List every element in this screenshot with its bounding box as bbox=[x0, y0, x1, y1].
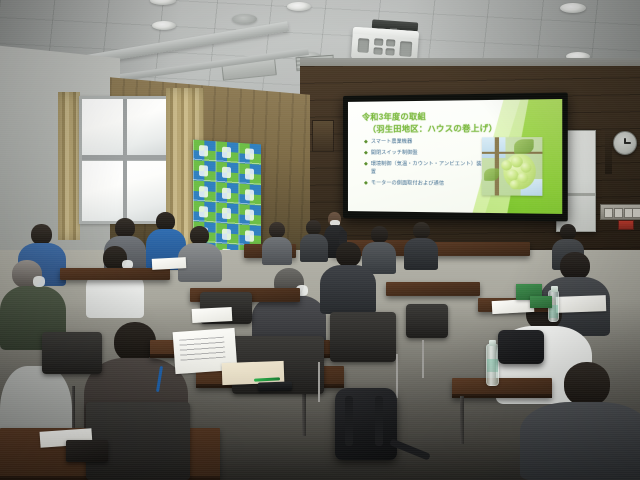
projector-vent bbox=[385, 48, 394, 56]
green-storage-box bbox=[530, 296, 552, 308]
bottle-cap bbox=[489, 340, 496, 346]
projector-vent bbox=[399, 41, 412, 57]
stacking-chair[interactable] bbox=[330, 312, 396, 362]
bullet-text: 環境制御（気温・カウント・アンビエント）装置 bbox=[371, 160, 486, 177]
window-mullion bbox=[82, 155, 171, 160]
chair-leg bbox=[422, 340, 424, 378]
bottle-label bbox=[487, 359, 498, 372]
greenhouse-sky-patch bbox=[482, 137, 506, 158]
floor-backpack[interactable] bbox=[335, 388, 397, 460]
printed-handout[interactable] bbox=[556, 295, 607, 313]
attendee-torso bbox=[262, 237, 292, 265]
attendee-head bbox=[560, 252, 590, 280]
bullet-marker-icon: ◆ bbox=[364, 179, 368, 187]
attendee-torso bbox=[404, 238, 438, 270]
wall-mounted-speaker bbox=[312, 120, 334, 152]
slide-title: 令和3年度の取組 （羽生田地区：ハウスの巻上げ） bbox=[362, 110, 497, 135]
light-switch[interactable] bbox=[604, 208, 613, 218]
attendee-head bbox=[269, 222, 285, 238]
bullet-text: スマート農業機器 bbox=[371, 138, 412, 146]
attendee-torso bbox=[320, 265, 376, 314]
projector-vent bbox=[386, 39, 395, 47]
grape-leaf bbox=[514, 139, 534, 154]
desk-front-edge bbox=[452, 394, 552, 398]
slide-title-line1: 令和3年度の取組 bbox=[362, 112, 426, 122]
slide-bullet-item: ◆ 開閉スイッチ制御盤 bbox=[364, 149, 486, 157]
screen-surface: 令和3年度の取組 （羽生田地区：ハウスの巻上げ） ◆ スマート農業機器 ◆ 開閉… bbox=[348, 99, 562, 214]
printed-handout[interactable] bbox=[152, 257, 187, 270]
handout-text-lines bbox=[179, 336, 225, 360]
conference-desk bbox=[386, 282, 480, 296]
projection-screen: 令和3年度の取組 （羽生田地区：ハウスの巻上げ） ◆ スマート農業機器 ◆ 開閉… bbox=[343, 93, 568, 222]
printed-handout[interactable] bbox=[492, 299, 535, 314]
grape-leaf bbox=[484, 168, 499, 181]
projector-vent bbox=[374, 38, 383, 46]
backpack-strap bbox=[375, 396, 383, 446]
emergency-button[interactable] bbox=[618, 220, 634, 230]
bullet-marker-icon: ◆ bbox=[364, 160, 368, 168]
seminar-room-photo: 令和3年度の取組 （羽生田地区：ハウスの巻上げ） ◆ スマート農業機器 ◆ 開閉… bbox=[0, 0, 640, 480]
recessed-downlight bbox=[560, 3, 586, 13]
conference-desk bbox=[452, 378, 552, 398]
black-wallet[interactable] bbox=[66, 440, 108, 462]
grape-vine-trunk bbox=[495, 137, 499, 195]
seated-attendee bbox=[320, 242, 376, 314]
projector-vent bbox=[373, 47, 382, 55]
attendee-head bbox=[564, 362, 610, 406]
wall-clock bbox=[613, 131, 637, 155]
light-switch[interactable] bbox=[632, 208, 640, 218]
seated-attendee bbox=[86, 246, 144, 318]
slide-bullet-item: ◆ 環境制御（気温・カウント・アンビエント）装置 bbox=[364, 160, 486, 177]
wall-trim-strip bbox=[605, 130, 612, 174]
attendee-head bbox=[115, 218, 135, 238]
desk-leg bbox=[460, 396, 464, 444]
recessed-downlight bbox=[287, 2, 311, 11]
chair-leg bbox=[396, 354, 398, 398]
attendee-head bbox=[31, 224, 52, 245]
attendee-head bbox=[560, 224, 576, 240]
bullet-marker-icon: ◆ bbox=[364, 149, 368, 157]
backpack-strap bbox=[345, 396, 353, 446]
window-mullion bbox=[123, 99, 127, 221]
window-curtain bbox=[58, 92, 80, 240]
projector-vent bbox=[357, 38, 369, 53]
attendee-torso bbox=[520, 402, 640, 480]
grape-vine-branch bbox=[482, 152, 543, 154]
chair-leg bbox=[318, 362, 320, 402]
shoulder-bag[interactable] bbox=[498, 330, 544, 364]
bullet-marker-icon: ◆ bbox=[364, 138, 368, 146]
slide-title-line2: （羽生田地区：ハウスの巻上げ） bbox=[362, 122, 497, 135]
seated-attendee bbox=[404, 222, 438, 270]
smartphone[interactable] bbox=[258, 381, 292, 391]
attendee-head bbox=[413, 222, 430, 239]
seated-attendee bbox=[262, 222, 292, 264]
shine-muscat-grape-photo bbox=[482, 137, 543, 196]
attendee-head bbox=[306, 220, 321, 235]
slide-bullet-item: ◆ モーターの側面取付および通信 bbox=[364, 179, 486, 188]
slide-bullet-list: ◆ スマート農業機器 ◆ 開閉スイッチ制御盤 ◆ 環境制御（気温・カウント・アン… bbox=[364, 137, 486, 191]
bullet-text: モーターの側面取付および通信 bbox=[371, 179, 444, 188]
desk-leg bbox=[72, 386, 75, 428]
attendee-face-mask bbox=[33, 276, 45, 287]
recessed-downlight bbox=[152, 21, 176, 30]
bullet-text: 開閉スイッチ制御盤 bbox=[371, 149, 418, 157]
ceiling-speaker bbox=[232, 14, 257, 24]
light-switch[interactable] bbox=[614, 208, 623, 218]
clock-minute-hand bbox=[624, 142, 631, 144]
slide-bullet-item: ◆ スマート農業機器 bbox=[364, 137, 486, 146]
stacking-chair[interactable] bbox=[42, 332, 102, 374]
attendee-head bbox=[336, 242, 361, 267]
grape-berry bbox=[521, 162, 532, 172]
exterior-window bbox=[79, 96, 174, 224]
grape-berry bbox=[510, 180, 520, 189]
seated-attendee bbox=[178, 226, 222, 282]
stacking-chair[interactable] bbox=[406, 304, 448, 338]
wall-switch-panel[interactable] bbox=[600, 204, 640, 220]
printed-handout[interactable] bbox=[192, 307, 233, 323]
bottle-cap bbox=[551, 286, 558, 292]
attendee-head bbox=[371, 226, 388, 243]
